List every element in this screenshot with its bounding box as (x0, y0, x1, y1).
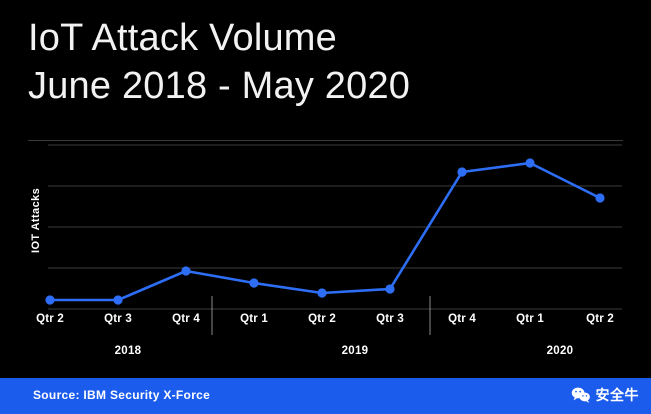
data-point-3 (249, 278, 258, 287)
watermark: 安全牛 (571, 385, 640, 405)
x-tick-label-8: Qtr 2 (565, 313, 635, 325)
x-tick-label-4: Qtr 2 (287, 313, 357, 325)
series-polyline (50, 163, 600, 300)
watermark-label: 安全牛 (596, 385, 640, 405)
data-point-4 (317, 288, 326, 297)
source-attribution: Source: IBM Security X-Force (33, 388, 210, 402)
x-tick-label-1: Qtr 3 (83, 313, 153, 325)
gridlines (48, 145, 622, 309)
slide-root: IoT Attack Volume June 2018 - May 2020 I… (0, 0, 651, 414)
data-point-6 (457, 167, 466, 176)
x-tick-label-2: Qtr 4 (151, 313, 221, 325)
series-line (50, 163, 600, 300)
series-markers (45, 158, 604, 304)
x-tick-label-6: Qtr 4 (427, 313, 497, 325)
x-group-label-2020: 2020 (515, 345, 605, 357)
data-point-7 (525, 158, 534, 167)
x-group-label-2018: 2018 (83, 345, 173, 357)
x-tick-label-5: Qtr 3 (355, 313, 425, 325)
data-point-0 (45, 295, 54, 304)
y-axis-label: IOT Attacks (26, 160, 46, 280)
x-tick-label-3: Qtr 1 (219, 313, 289, 325)
x-tick-label-7: Qtr 1 (495, 313, 565, 325)
footer-bar: Source: IBM Security X-Force 安全牛 (0, 378, 651, 414)
wechat-icon (571, 386, 591, 404)
x-group-label-2019: 2019 (310, 345, 400, 357)
data-point-1 (113, 295, 122, 304)
x-tick-label-0: Qtr 2 (15, 313, 85, 325)
data-point-5 (385, 284, 394, 293)
data-point-2 (181, 266, 190, 275)
data-point-8 (595, 193, 604, 202)
